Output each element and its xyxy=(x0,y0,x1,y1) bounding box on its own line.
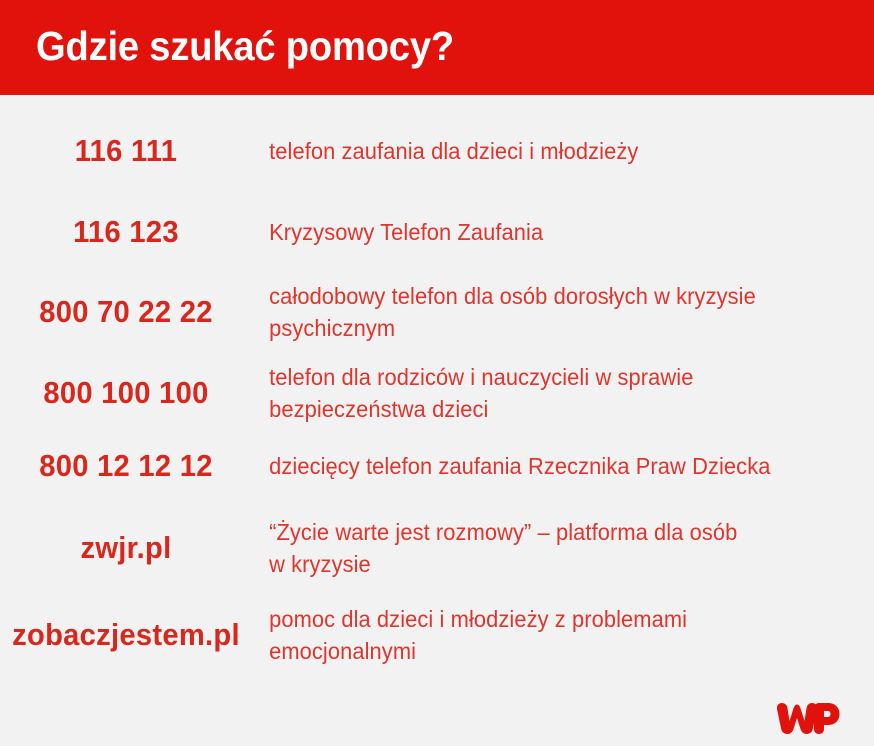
list-item: zobaczjestem.pl pomoc dla dzieci i młodz… xyxy=(0,599,874,671)
contact-value: zwjr.pl xyxy=(8,532,245,565)
list-item: 800 12 12 12 dziecięcy telefon zaufania … xyxy=(0,446,874,486)
contact-description: “Życie warte jest rozmowy” – platforma d… xyxy=(252,516,843,580)
contact-description: Kryzysowy Telefon Zaufania xyxy=(252,216,843,248)
list-item: 116 123 Kryzysowy Telefon Zaufania xyxy=(0,212,874,252)
description-line: emocjonalnymi xyxy=(269,635,837,667)
wp-logo-icon xyxy=(776,697,840,737)
description-line: w kryzysie xyxy=(269,548,837,580)
description-line: “Życie warte jest rozmowy” – platforma d… xyxy=(269,516,837,548)
help-contacts-list: 116 111 telefon zaufania dla dzieci i mł… xyxy=(0,95,874,746)
contact-value: 116 111 xyxy=(8,135,245,168)
list-item: 800 70 22 22 całodobowy telefon dla osób… xyxy=(0,276,874,348)
contact-description: telefon zaufania dla dzieci i młodzieży xyxy=(252,135,843,167)
description-line: Kryzysowy Telefon Zaufania xyxy=(269,216,837,248)
contact-value: zobaczjestem.pl xyxy=(8,619,245,652)
contact-value: 800 70 22 22 xyxy=(8,296,245,329)
contact-description: pomoc dla dzieci i młodzieży z problemam… xyxy=(252,603,843,667)
description-line: telefon zaufania dla dzieci i młodzieży xyxy=(269,135,837,167)
infographic-root: Gdzie szukać pomocy? 116 111 telefon zau… xyxy=(0,0,874,746)
contact-description: telefon dla rodziców i nauczycieli w spr… xyxy=(252,361,843,425)
description-line: psychicznym xyxy=(269,312,837,344)
list-item: 116 111 telefon zaufania dla dzieci i mł… xyxy=(0,131,874,171)
contact-value: 116 123 xyxy=(8,216,245,249)
description-line: całodobowy telefon dla osób dorosłych w … xyxy=(269,280,837,312)
list-item: zwjr.pl “Życie warte jest rozmowy” – pla… xyxy=(0,512,874,584)
contact-value: 800 100 100 xyxy=(8,377,245,410)
contact-description: dziecięcy telefon zaufania Rzecznika Pra… xyxy=(252,450,843,482)
contact-description: całodobowy telefon dla osób dorosłych w … xyxy=(252,280,843,344)
description-line: pomoc dla dzieci i młodzieży z problemam… xyxy=(269,603,837,635)
contact-value: 800 12 12 12 xyxy=(8,450,245,483)
description-line: bezpieczeństwa dzieci xyxy=(269,393,837,425)
list-item: 800 100 100 telefon dla rodziców i naucz… xyxy=(0,357,874,429)
description-line: dziecięcy telefon zaufania Rzecznika Pra… xyxy=(269,450,837,482)
page-title: Gdzie szukać pomocy? xyxy=(36,11,454,81)
header-band: Gdzie szukać pomocy? xyxy=(0,0,874,95)
description-line: telefon dla rodziców i nauczycieli w spr… xyxy=(269,361,837,393)
